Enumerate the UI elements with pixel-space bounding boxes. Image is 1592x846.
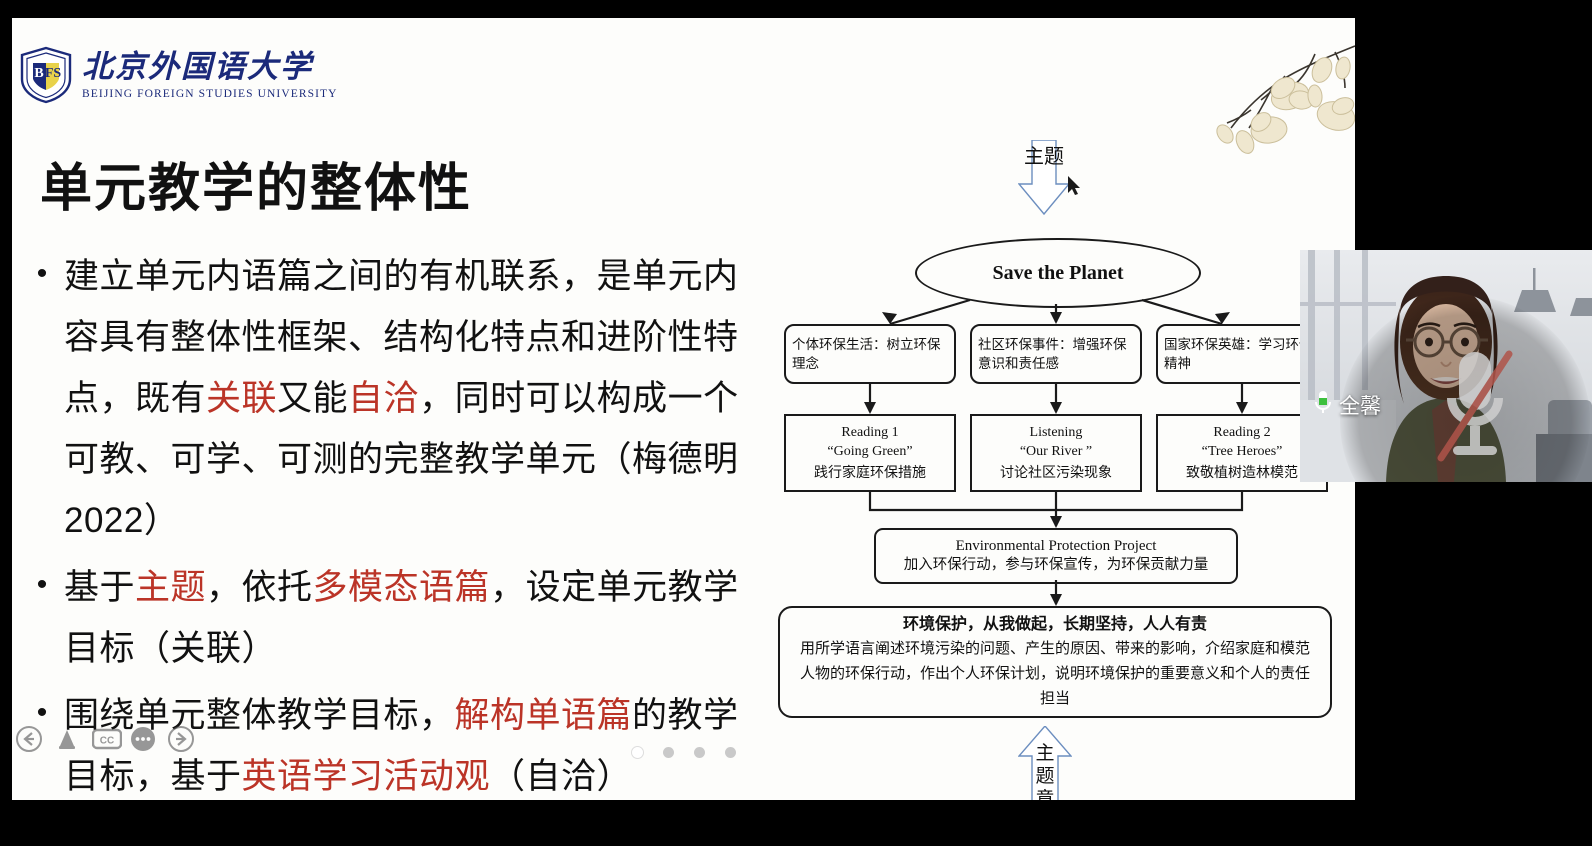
microphone-icon <box>1314 390 1332 420</box>
summary-heading: 环境保护，从我做起，长期坚持，人人有责 <box>903 613 1207 637</box>
bullet-item: • 建立单元内语篇之间的有机联系，是单元内容具有整体性框架、结构化特点和进阶性特… <box>34 246 764 551</box>
bullet-segment: 基于 <box>64 568 135 607</box>
theme-box: 社区环保事件：增强环保意识和责任感 <box>970 324 1142 384</box>
slide-title: 单元教学的整体性 <box>40 146 472 221</box>
pagination-dot[interactable] <box>663 747 674 758</box>
lesson-subtitle: “Our River ” <box>1020 443 1092 461</box>
bullet-segment-highlight: 主题 <box>135 568 206 607</box>
summary-box: 环境保护，从我做起，长期坚持，人人有责 用所学语言阐述环境污染的问题、产生的原因… <box>778 606 1332 718</box>
lesson-title: Reading 2 <box>1213 424 1270 442</box>
pagination-dot[interactable] <box>632 747 643 758</box>
svg-text:FS: FS <box>45 66 62 81</box>
bullet-marker: • <box>34 246 50 302</box>
theme-box-row: 个体环保生活：树立环保理念 社区环保事件：增强环保意识和责任感 国家环保英雄：学… <box>770 324 1340 388</box>
lesson-box: Reading 1 “Going Green” 践行家庭环保措施 <box>784 414 956 492</box>
bullet-marker: • <box>34 557 50 613</box>
project-title-cn: 加入环保行动，参与环保宣传，为环保贡献力量 <box>904 556 1209 575</box>
university-name-en: BEIJING FOREIGN STUDIES UNIVERSITY <box>82 88 338 100</box>
lesson-title: Listening <box>1030 424 1083 442</box>
project-box: Environmental Protection Project 加入环保行动，… <box>874 528 1238 584</box>
participant-video-tile[interactable]: 全馨 <box>1300 250 1592 482</box>
pagination-dot[interactable] <box>694 747 705 758</box>
lesson-box: Listening “Our River ” 讨论社区污染现象 <box>970 414 1142 492</box>
bullet-segment: （自洽） <box>490 757 632 796</box>
lesson-note: 讨论社区污染现象 <box>1000 464 1112 483</box>
lesson-note: 践行家庭环保措施 <box>814 464 926 483</box>
lesson-box-row: Reading 1 “Going Green” 践行家庭环保措施 Listeni… <box>770 414 1340 496</box>
pagination-dot[interactable] <box>725 747 736 758</box>
muted-microphone-overlay-icon <box>1415 338 1535 468</box>
slide-bullet-list: • 建立单元内语篇之间的有机联系，是单元内容具有整体性框架、结构化特点和进阶性特… <box>34 246 764 800</box>
lesson-title: Reading 1 <box>841 424 898 442</box>
lesson-subtitle: “Going Green” <box>827 443 912 461</box>
bullet-text: 基于主题，依托多模态语篇，设定单元教学目标（关联） <box>64 557 764 679</box>
svg-text:CC: CC <box>100 736 114 747</box>
bullet-segment-highlight: 多模态语篇 <box>313 568 491 607</box>
svg-text:B: B <box>34 66 43 81</box>
bullet-segment-highlight: 解构单语篇 <box>455 696 633 735</box>
bullet-segment-highlight: 英语学习活动观 <box>242 757 491 796</box>
university-logo: B FS 北京外国语大学 BEIJING FOREIGN STUDIES UNI… <box>20 46 338 104</box>
university-name-cn: 北京外国语大学 <box>82 51 338 82</box>
bullet-segment: ，依托 <box>206 568 313 607</box>
participant-name-badge: 全馨 <box>1314 390 1381 420</box>
lesson-note: 致敬植树造林模范 <box>1186 464 1298 483</box>
bullet-segment-highlight: 自洽 <box>348 379 419 418</box>
bullet-segment: 又能 <box>277 379 348 418</box>
bullet-segment-highlight: 关联 <box>206 379 277 418</box>
theme-box: 个体环保生活：树立环保理念 <box>784 324 956 384</box>
participant-name: 全馨 <box>1339 390 1381 420</box>
video-call-stage: B FS 北京外国语大学 BEIJING FOREIGN STUDIES UNI… <box>0 0 1592 846</box>
bfs-shield-icon: B FS <box>20 46 72 104</box>
presentation-slide: B FS 北京外国语大学 BEIJING FOREIGN STUDIES UNI… <box>12 18 1355 800</box>
theme-meaning-up-arrow: 主题意义 <box>1018 726 1072 800</box>
summary-body: 用所学语言阐述环境污染的问题、产生的原因、带来的影响，介绍家庭和模范人物的环保行… <box>794 637 1316 712</box>
lesson-subtitle: “Tree Heroes” <box>1202 443 1283 461</box>
slide-pagination[interactable] <box>12 747 1355 758</box>
mouse-cursor <box>1068 176 1082 196</box>
theme-arrow-label: 主题 <box>1018 146 1070 169</box>
diagram-center-node: Save the Planet <box>915 238 1201 308</box>
theme-down-arrow: 主题 <box>1018 140 1070 216</box>
project-title-en: Environmental Protection Project <box>956 537 1157 556</box>
bullet-text: 建立单元内语篇之间的有机联系，是单元内容具有整体性框架、结构化特点和进阶性特点，… <box>64 246 764 551</box>
unit-teaching-flow-diagram: 主题 Save the Planet 个体环保生活：树立环保理念 社区环保事件：… <box>770 128 1340 800</box>
bullet-item: • 基于主题，依托多模态语篇，设定单元教学目标（关联） <box>34 557 764 679</box>
